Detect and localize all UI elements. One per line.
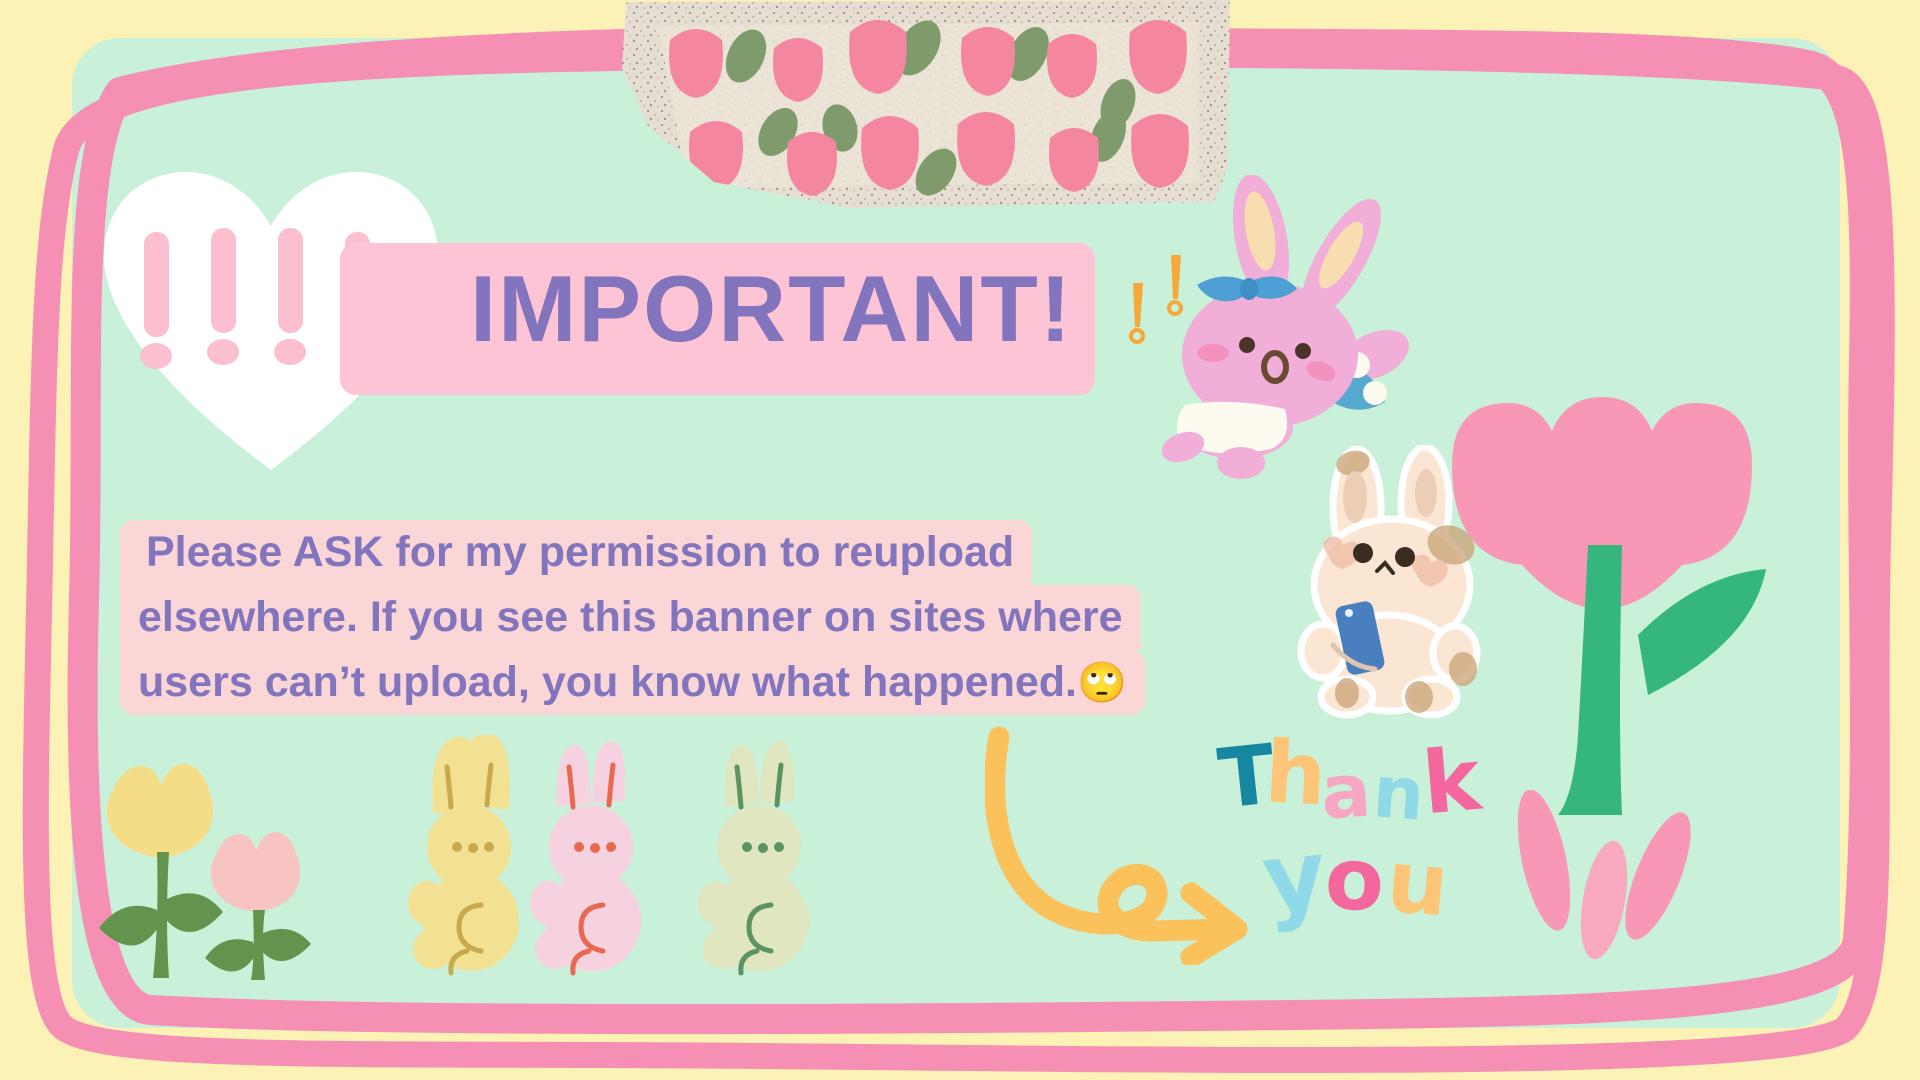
ty-letter-u: u [1383, 838, 1451, 929]
cream-bunny-sticker [1285, 445, 1510, 720]
yellow-tulip [99, 764, 223, 978]
ty-letter-h: h [1263, 729, 1329, 818]
ty-letter-o: o [1324, 836, 1386, 924]
page-title: IMPORTANT! [470, 262, 1073, 356]
pink-bunny-sticker [1125, 175, 1415, 485]
green-gummy-bunny [698, 741, 809, 973]
tulip-pair-sticker [95, 740, 340, 980]
notice-line-3: users can’t upload, you know what happen… [120, 650, 1145, 715]
ty-letter-a: a [1319, 754, 1373, 831]
rolling-eyes-emoji: 🙄 [1077, 661, 1127, 705]
exclamation-accent-marks [1131, 255, 1181, 342]
notice-text-block: Please ASK for my permission to reupload… [120, 520, 1160, 715]
notice-line-1: Please ASK for my permission to reupload [120, 520, 1032, 585]
tulip-washi-tape [618, 0, 1238, 210]
pink-gummy-bunny [530, 741, 641, 973]
thank-you-lettering: T h a n k y o u [1215, 745, 1515, 960]
notice-line-3-text: users can’t upload, you know what happen… [138, 658, 1077, 706]
ty-letter-n: n [1371, 755, 1427, 830]
gummy-bunny-row [405, 735, 925, 985]
ty-letter-y: y [1258, 826, 1330, 928]
banner-canvas: IMPORTANT! Please ASK for my permission … [0, 0, 1920, 1080]
pink-tulip [205, 832, 311, 980]
yellow-gummy-bunny [408, 741, 519, 973]
falling-petals [1500, 790, 1730, 990]
notice-line-2: elsewhere. If you see this banner on sit… [120, 585, 1141, 650]
ty-letter-k: k [1419, 737, 1483, 828]
